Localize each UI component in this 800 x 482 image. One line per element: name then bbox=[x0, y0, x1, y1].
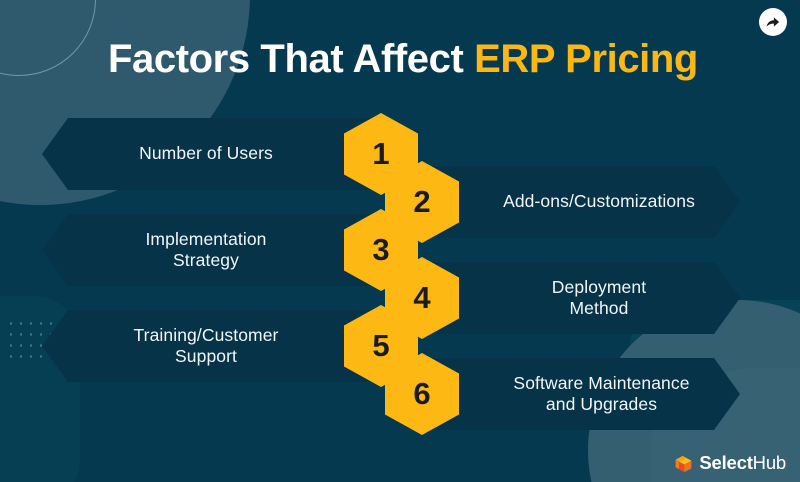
factor-row: Deployment Method 4 bbox=[385, 262, 740, 334]
factor-row: Number of Users 1 bbox=[42, 118, 382, 190]
factor-row: Training/Customer Support 5 bbox=[42, 310, 382, 382]
factor-row: Implementation Strategy 3 bbox=[42, 214, 382, 286]
share-arrow-icon bbox=[765, 14, 781, 30]
selecthub-cube-icon bbox=[674, 454, 693, 473]
infographic-canvas: Factors That Affect ERP Pricing Number o… bbox=[0, 0, 800, 482]
factor-row: Add-ons/Customizations 2 bbox=[385, 166, 740, 238]
factor-label: Number of Users bbox=[68, 118, 344, 190]
factor-label: Software Maintenance and Upgrades bbox=[479, 358, 724, 430]
selecthub-wordmark: SelectHub bbox=[699, 452, 786, 474]
factor-label: Deployment Method bbox=[479, 262, 719, 334]
decor-circle-outline bbox=[0, 0, 96, 76]
share-button[interactable] bbox=[759, 8, 787, 36]
factor-label: Implementation Strategy bbox=[68, 214, 344, 286]
logo-name-bold: Select bbox=[699, 452, 752, 473]
logo-name-light: Hub bbox=[753, 452, 786, 473]
page-title: Factors That Affect ERP Pricing bbox=[108, 36, 698, 82]
title-lead: Factors That Affect bbox=[108, 37, 474, 81]
factor-row: Software Maintenance and Upgrades 6 bbox=[385, 358, 740, 430]
title-accent: ERP Pricing bbox=[474, 37, 698, 81]
selecthub-logo[interactable]: SelectHub bbox=[674, 452, 786, 474]
factor-label: Add-ons/Customizations bbox=[479, 166, 719, 238]
factor-label: Training/Customer Support bbox=[68, 310, 344, 382]
